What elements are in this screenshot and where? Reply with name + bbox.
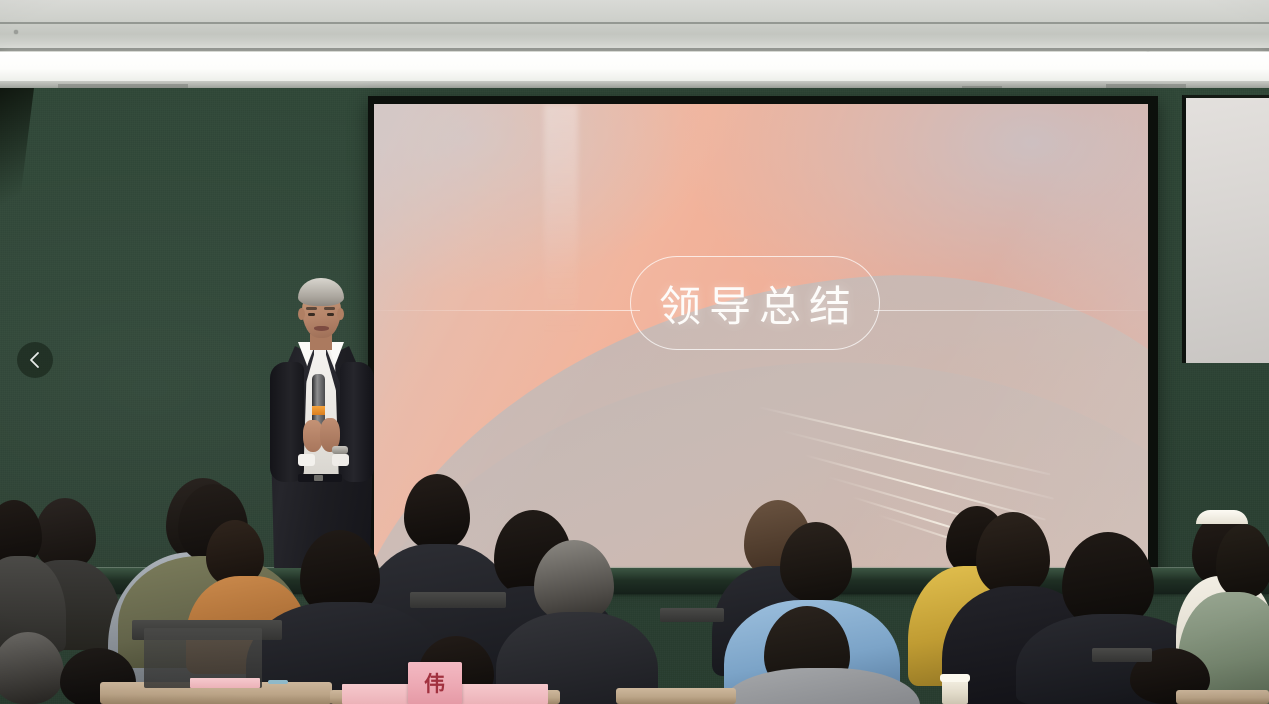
audience-group [0, 0, 1269, 704]
desk-mid-right [616, 688, 736, 704]
desk-far-right [1176, 690, 1269, 704]
previous-image-button[interactable] [17, 342, 53, 378]
chair-back [1092, 648, 1152, 662]
chair-back [410, 592, 506, 608]
paper-cup-lid [940, 674, 970, 682]
name-card-text: 伟 [424, 668, 446, 698]
photo-viewer-stage: 领导总结 [0, 0, 1269, 704]
pen [268, 680, 288, 684]
chevron-left-icon [28, 350, 42, 370]
name-card: 伟 [408, 662, 462, 704]
chair-back [660, 608, 724, 622]
pink-paper [190, 678, 260, 688]
